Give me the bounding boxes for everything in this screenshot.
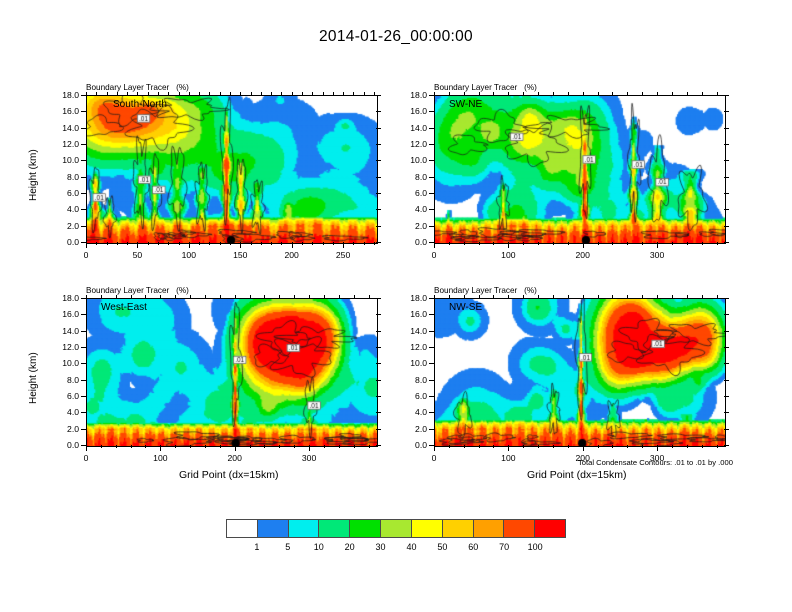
x-minor-tick-top [137, 92, 138, 95]
x-tick-label: 300 [643, 250, 671, 260]
figure-page: 2014-01-26_00:00:00 Boundary Layer Trace… [0, 0, 792, 612]
y-tick-right [376, 111, 381, 112]
x-minor-tick-top [179, 92, 180, 95]
x-minor-tick [717, 445, 718, 448]
x-minor-tick [86, 445, 87, 448]
x-minor-tick-top [434, 92, 435, 95]
y-tick-right [724, 160, 729, 161]
y-tick-label: 8.0 [46, 172, 79, 182]
field-canvas-nw-se [435, 299, 725, 446]
y-tick-right [724, 226, 729, 227]
x-minor-tick-top [627, 295, 628, 298]
y-tick [429, 429, 434, 430]
x-minor-tick [553, 242, 554, 245]
x-minor-tick-top [279, 295, 280, 298]
x-minor-tick-top [240, 92, 241, 95]
x-minor-tick-top [374, 92, 375, 95]
x-minor-tick-top [199, 92, 200, 95]
x-minor-tick [137, 242, 138, 245]
x-minor-tick [343, 242, 344, 245]
y-axis-title: Height (km) [28, 149, 39, 201]
x-minor-tick [190, 445, 191, 448]
y-tick-right [376, 177, 381, 178]
x-minor-tick-top [598, 92, 599, 95]
y-tick-right [724, 429, 729, 430]
y-tick-right [376, 95, 381, 96]
x-minor-tick [271, 242, 272, 245]
x-minor-tick [160, 445, 161, 448]
x-minor-tick-top [479, 295, 480, 298]
y-tick-label: 6.0 [46, 391, 79, 401]
y-tick-label: 4.0 [394, 407, 427, 417]
x-minor-tick-top [339, 295, 340, 298]
y-tick-label: 14.0 [394, 326, 427, 336]
x-minor-tick [324, 445, 325, 448]
colorbar-cell [504, 520, 535, 537]
x-minor-tick-top [251, 92, 252, 95]
y-tick [429, 193, 434, 194]
plot-area-west-east: West-East [86, 298, 378, 447]
y-tick-label: 6.0 [394, 188, 427, 198]
x-minor-tick [354, 445, 355, 448]
x-minor-tick-top [702, 295, 703, 298]
x-minor-tick-top [553, 92, 554, 95]
x-tick-label: 100 [175, 250, 203, 260]
x-minor-tick-top [205, 295, 206, 298]
x-tick-label: 100 [494, 453, 522, 463]
x-minor-tick-top [96, 92, 97, 95]
panel-label: NW-SE [449, 302, 482, 313]
x-minor-tick [220, 445, 221, 448]
x-minor-tick [508, 242, 509, 245]
x-minor-tick-top [189, 92, 190, 95]
y-tick [81, 363, 86, 364]
colorbar-cell [443, 520, 474, 537]
x-minor-tick-top [271, 92, 272, 95]
y-tick-right [724, 331, 729, 332]
y-tick-label: 18.0 [46, 293, 79, 303]
x-minor-tick-top [235, 295, 236, 298]
x-minor-tick-top [493, 92, 494, 95]
x-minor-tick-top [220, 295, 221, 298]
y-axis-title: Height (km) [28, 352, 39, 404]
y-tick-label: 2.0 [394, 424, 427, 434]
x-minor-tick [702, 445, 703, 448]
y-tick-label: 14.0 [46, 326, 79, 336]
x-minor-tick [220, 242, 221, 245]
x-minor-tick-top [627, 92, 628, 95]
x-minor-tick [523, 242, 524, 245]
y-tick-right [724, 347, 729, 348]
x-minor-tick [333, 242, 334, 245]
field-canvas-west-east [87, 299, 377, 446]
page-title: 2014-01-26_00:00:00 [0, 28, 792, 46]
x-tick-label: 100 [146, 453, 174, 463]
y-tick-label: 0.0 [46, 440, 79, 450]
y-tick-label: 4.0 [46, 204, 79, 214]
y-tick-label: 12.0 [394, 342, 427, 352]
x-minor-tick-top [672, 92, 673, 95]
y-tick-right [376, 314, 381, 315]
y-tick [429, 396, 434, 397]
x-minor-tick [493, 445, 494, 448]
y-tick [81, 380, 86, 381]
x-minor-tick [168, 242, 169, 245]
y-tick [81, 331, 86, 332]
x-minor-tick-top [464, 295, 465, 298]
x-tick-label: 250 [329, 250, 357, 260]
x-minor-tick-top [672, 295, 673, 298]
x-minor-tick [312, 242, 313, 245]
x-minor-tick-top [364, 92, 365, 95]
x-minor-tick-top [86, 295, 87, 298]
field-canvas-south-north [87, 96, 377, 243]
x-axis-title: Grid Point (dx=15km) [179, 469, 279, 481]
x-tick-label: 0 [72, 250, 100, 260]
y-tick-label: 12.0 [46, 342, 79, 352]
x-minor-tick-top [508, 92, 509, 95]
x-minor-tick-top [612, 92, 613, 95]
x-minor-tick-top [309, 295, 310, 298]
y-tick [429, 144, 434, 145]
y-tick-right [376, 193, 381, 194]
x-minor-tick-top [250, 295, 251, 298]
panel-label: SW-NE [449, 99, 482, 110]
x-minor-tick [672, 242, 673, 245]
x-minor-tick-top [523, 92, 524, 95]
x-minor-tick-top [612, 295, 613, 298]
x-minor-tick-top [717, 92, 718, 95]
x-minor-tick-top [687, 92, 688, 95]
x-minor-tick-top [657, 295, 658, 298]
y-tick-label: 0.0 [394, 237, 427, 247]
y-tick [429, 226, 434, 227]
x-minor-tick-top [230, 92, 231, 95]
x-minor-tick-top [343, 92, 344, 95]
y-tick-right [376, 445, 381, 446]
x-minor-tick-top [281, 92, 282, 95]
y-tick-right [376, 226, 381, 227]
y-tick [81, 95, 86, 96]
y-tick-right [376, 242, 381, 243]
y-tick-right [376, 209, 381, 210]
x-minor-tick [657, 242, 658, 245]
x-minor-tick [434, 445, 435, 448]
x-minor-tick [464, 242, 465, 245]
x-minor-tick [627, 242, 628, 245]
x-tick-label: 50 [123, 250, 151, 260]
x-minor-tick [148, 242, 149, 245]
panel-label: South-North [113, 99, 167, 110]
y-tick [429, 160, 434, 161]
y-tick-right [724, 363, 729, 364]
y-tick-label: 2.0 [46, 221, 79, 231]
y-tick-label: 18.0 [394, 293, 427, 303]
y-tick-right [724, 193, 729, 194]
x-minor-tick [364, 242, 365, 245]
y-tick-label: 14.0 [394, 123, 427, 133]
x-minor-tick [612, 445, 613, 448]
x-minor-tick-top [568, 92, 569, 95]
x-minor-tick-top [657, 92, 658, 95]
x-tick-label: 100 [494, 250, 522, 260]
x-minor-tick-top [583, 92, 584, 95]
y-tick [81, 128, 86, 129]
x-minor-tick-top [101, 295, 102, 298]
x-minor-tick [687, 445, 688, 448]
x-minor-tick-top [508, 295, 509, 298]
x-minor-tick [294, 445, 295, 448]
y-tick-label: 10.0 [46, 155, 79, 165]
y-tick-right [376, 128, 381, 129]
y-tick-label: 4.0 [394, 204, 427, 214]
x-axis-title: Grid Point (dx=15km) [527, 469, 627, 481]
x-minor-tick [523, 445, 524, 448]
x-minor-tick-top [190, 295, 191, 298]
x-minor-tick [657, 445, 658, 448]
y-tick [429, 128, 434, 129]
x-minor-tick [199, 242, 200, 245]
x-minor-tick [127, 242, 128, 245]
x-minor-tick [117, 242, 118, 245]
y-tick-right [376, 331, 381, 332]
y-tick-right [376, 160, 381, 161]
y-tick-label: 6.0 [394, 391, 427, 401]
x-minor-tick [251, 242, 252, 245]
x-minor-tick-top [642, 92, 643, 95]
colorbar-cell [474, 520, 505, 537]
y-tick [81, 160, 86, 161]
x-minor-tick-top [324, 295, 325, 298]
y-tick-label: 4.0 [46, 407, 79, 417]
y-tick-right [376, 429, 381, 430]
colorbar-cell [350, 520, 381, 537]
y-tick [429, 209, 434, 210]
x-minor-tick [96, 242, 97, 245]
x-minor-tick-top [117, 92, 118, 95]
y-tick [81, 111, 86, 112]
x-minor-tick [369, 445, 370, 448]
x-minor-tick-top [449, 295, 450, 298]
x-minor-tick-top [333, 92, 334, 95]
x-minor-tick-top [538, 92, 539, 95]
y-tick [429, 314, 434, 315]
x-minor-tick [598, 445, 599, 448]
x-minor-tick-top [209, 92, 210, 95]
x-minor-tick [642, 445, 643, 448]
x-minor-tick [434, 242, 435, 245]
y-tick [429, 380, 434, 381]
x-minor-tick-top [598, 295, 599, 298]
y-tick-right [724, 242, 729, 243]
colorbar-cell [227, 520, 258, 537]
y-tick [429, 95, 434, 96]
y-tick-label: 2.0 [394, 221, 427, 231]
x-minor-tick [323, 242, 324, 245]
y-tick-right [724, 128, 729, 129]
x-minor-tick-top [158, 92, 159, 95]
x-minor-tick [538, 445, 539, 448]
x-minor-tick [479, 242, 480, 245]
x-tick-label: 300 [295, 453, 323, 463]
x-minor-tick-top [220, 92, 221, 95]
x-minor-tick-top [86, 92, 87, 95]
x-minor-tick [107, 242, 108, 245]
x-minor-tick [179, 242, 180, 245]
x-minor-tick [175, 445, 176, 448]
x-minor-tick [205, 445, 206, 448]
x-minor-tick [131, 445, 132, 448]
x-minor-tick-top [568, 295, 569, 298]
x-minor-tick [302, 242, 303, 245]
y-tick-right [724, 396, 729, 397]
x-minor-tick [261, 242, 262, 245]
y-tick-label: 16.0 [46, 106, 79, 116]
y-tick-label: 16.0 [394, 309, 427, 319]
x-minor-tick [642, 242, 643, 245]
y-tick [81, 429, 86, 430]
x-minor-tick [464, 445, 465, 448]
x-minor-tick-top [449, 92, 450, 95]
y-tick-right [724, 314, 729, 315]
x-tick-label: 0 [420, 453, 448, 463]
x-minor-tick-top [642, 295, 643, 298]
colorbar-cell [258, 520, 289, 537]
x-minor-tick [189, 242, 190, 245]
x-minor-tick [538, 242, 539, 245]
y-tick [429, 111, 434, 112]
x-minor-tick [230, 242, 231, 245]
x-minor-tick [702, 242, 703, 245]
y-tick [429, 412, 434, 413]
x-minor-tick [353, 242, 354, 245]
x-minor-tick-top [464, 92, 465, 95]
x-minor-tick-top [168, 92, 169, 95]
x-minor-tick-top [702, 92, 703, 95]
y-tick-label: 14.0 [46, 123, 79, 133]
x-minor-tick [240, 242, 241, 245]
y-tick-right [376, 412, 381, 413]
x-minor-tick [627, 445, 628, 448]
x-minor-tick-top [687, 295, 688, 298]
y-tick [81, 177, 86, 178]
x-minor-tick-top [523, 295, 524, 298]
y-tick-label: 8.0 [394, 375, 427, 385]
y-tick-label: 10.0 [394, 358, 427, 368]
y-tick [429, 298, 434, 299]
plot-area-south-north: South-North [86, 95, 378, 244]
colorbar-cell [381, 520, 412, 537]
x-minor-tick [479, 445, 480, 448]
x-minor-tick [717, 242, 718, 245]
x-minor-tick-top [160, 295, 161, 298]
x-minor-tick [553, 445, 554, 448]
x-minor-tick-top [354, 295, 355, 298]
y-tick-label: 12.0 [394, 139, 427, 149]
x-tick-label: 150 [226, 250, 254, 260]
x-tick-label: 200 [569, 250, 597, 260]
y-tick-right [376, 144, 381, 145]
x-minor-tick [279, 445, 280, 448]
plot-area-nw-se: NW-SE [434, 298, 726, 447]
y-tick-label: 16.0 [394, 106, 427, 116]
x-minor-tick-top [434, 295, 435, 298]
x-minor-tick-top [717, 295, 718, 298]
colorbar [226, 519, 566, 538]
x-minor-tick-top [116, 295, 117, 298]
y-tick-right [724, 95, 729, 96]
x-minor-tick-top [312, 92, 313, 95]
y-tick-label: 8.0 [394, 172, 427, 182]
y-tick [81, 347, 86, 348]
y-tick-right [724, 209, 729, 210]
field-canvas-sw-ne [435, 96, 725, 243]
y-tick [81, 209, 86, 210]
y-tick-right [724, 177, 729, 178]
x-tick-label: 200 [221, 453, 249, 463]
x-minor-tick-top [107, 92, 108, 95]
x-minor-tick-top [583, 295, 584, 298]
x-minor-tick-top [353, 92, 354, 95]
y-tick-label: 18.0 [394, 90, 427, 100]
colorbar-cell [535, 520, 565, 537]
x-minor-tick-top [553, 295, 554, 298]
y-tick-right [724, 412, 729, 413]
x-minor-tick [508, 445, 509, 448]
x-minor-tick [86, 242, 87, 245]
y-tick [81, 144, 86, 145]
y-tick [429, 363, 434, 364]
y-tick [429, 331, 434, 332]
x-minor-tick [235, 445, 236, 448]
y-tick [81, 396, 86, 397]
y-tick [81, 298, 86, 299]
x-minor-tick [568, 445, 569, 448]
x-tick-label: 200 [278, 250, 306, 260]
y-tick [81, 193, 86, 194]
x-minor-tick-top [479, 92, 480, 95]
y-tick [81, 226, 86, 227]
y-tick-label: 8.0 [46, 375, 79, 385]
y-tick-right [376, 380, 381, 381]
x-minor-tick [583, 445, 584, 448]
y-tick-label: 10.0 [394, 155, 427, 165]
x-minor-tick [116, 445, 117, 448]
colorbar-cell [412, 520, 443, 537]
x-minor-tick [292, 242, 293, 245]
x-minor-tick [264, 445, 265, 448]
x-minor-tick [612, 242, 613, 245]
x-minor-tick [687, 242, 688, 245]
x-minor-tick-top [302, 92, 303, 95]
x-minor-tick [449, 445, 450, 448]
x-minor-tick-top [145, 295, 146, 298]
x-minor-tick [101, 445, 102, 448]
x-tick-label: 0 [420, 250, 448, 260]
x-minor-tick-top [261, 92, 262, 95]
y-tick-right [376, 347, 381, 348]
x-minor-tick-top [264, 295, 265, 298]
x-minor-tick-top [175, 295, 176, 298]
x-minor-tick-top [323, 92, 324, 95]
y-tick [81, 314, 86, 315]
colorbar-cell [319, 520, 350, 537]
y-tick [81, 412, 86, 413]
x-minor-tick-top [131, 295, 132, 298]
y-tick-right [724, 445, 729, 446]
x-minor-tick-top [538, 295, 539, 298]
y-tick-right [724, 144, 729, 145]
